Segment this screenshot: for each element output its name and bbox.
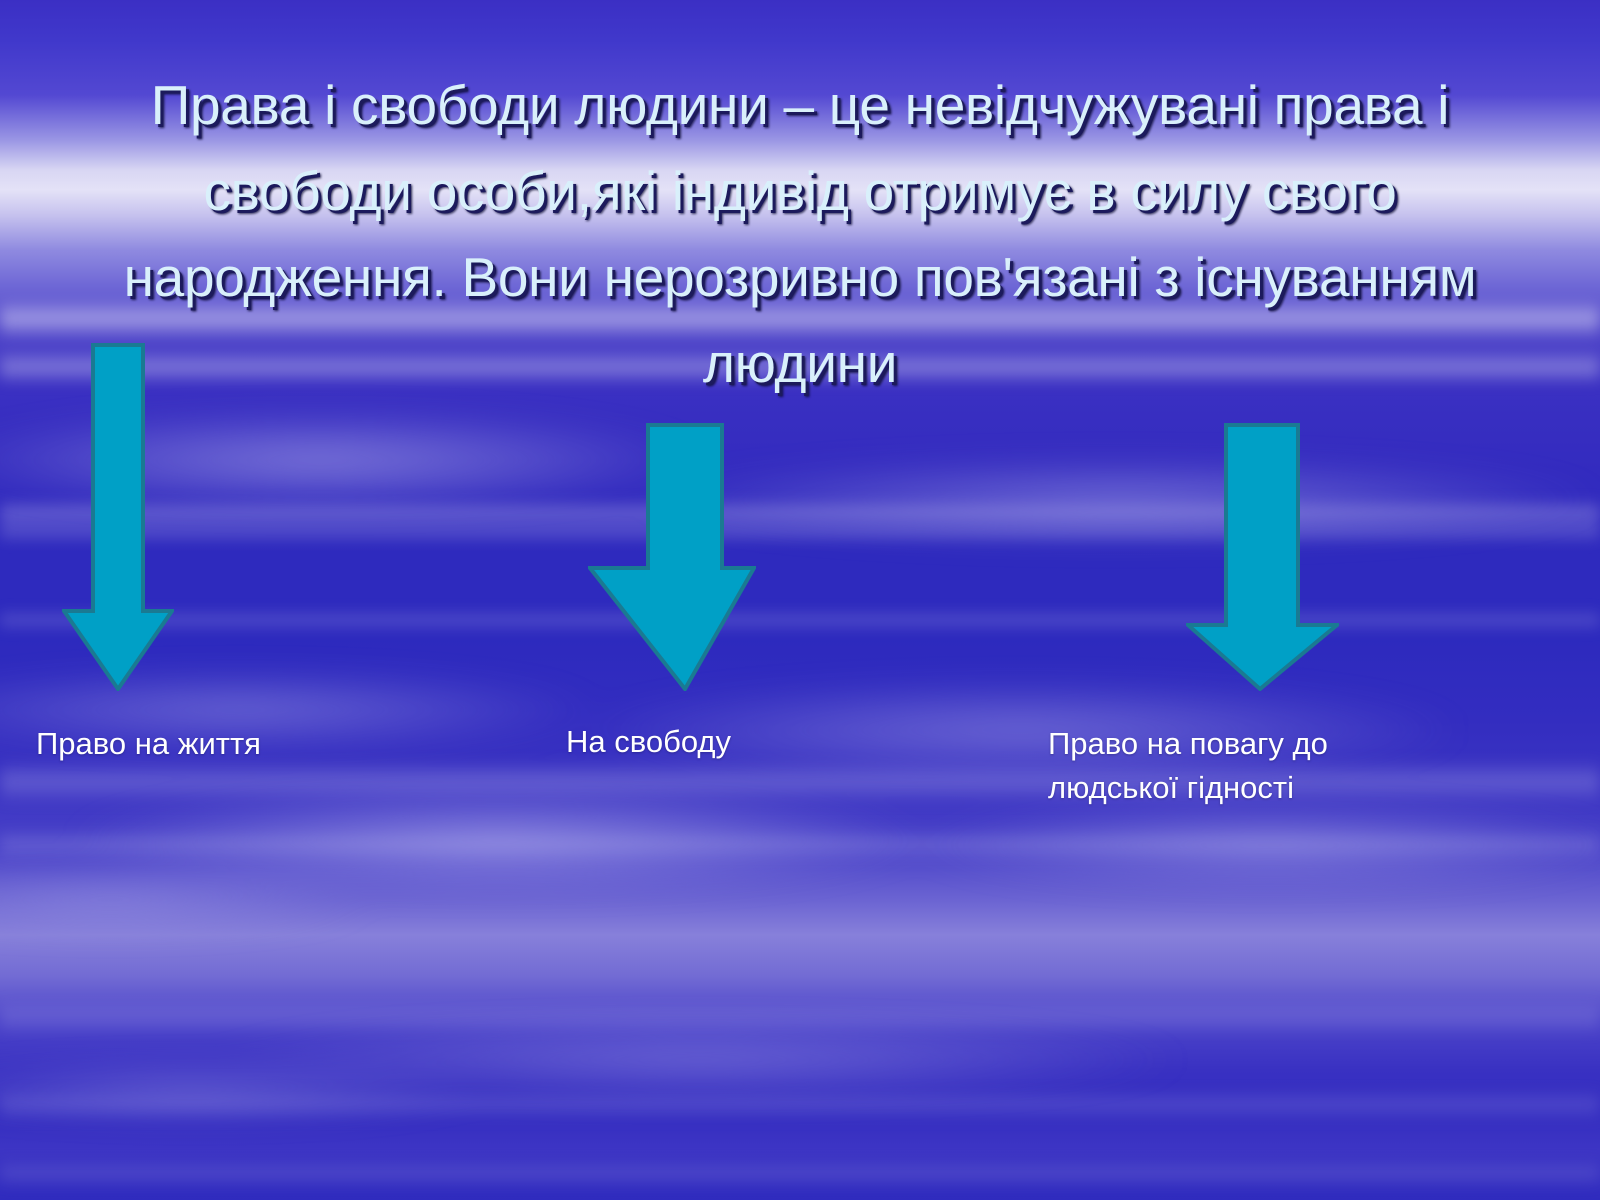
label-right-to-dignity: Право на повагу до людської гідності [1048,722,1408,810]
down-arrow-icon-freedom [588,423,756,691]
label-right-to-life: Право на життя [36,722,336,766]
slide-title: Права і свободи людини – це невідчужуван… [60,62,1540,406]
presentation-slide: Права і свободи людини – це невідчужуван… [0,0,1600,1200]
down-arrow-icon-dignity [1186,423,1339,691]
down-arrow-icon-life [62,343,174,691]
label-right-to-freedom: На свободу [566,720,906,764]
